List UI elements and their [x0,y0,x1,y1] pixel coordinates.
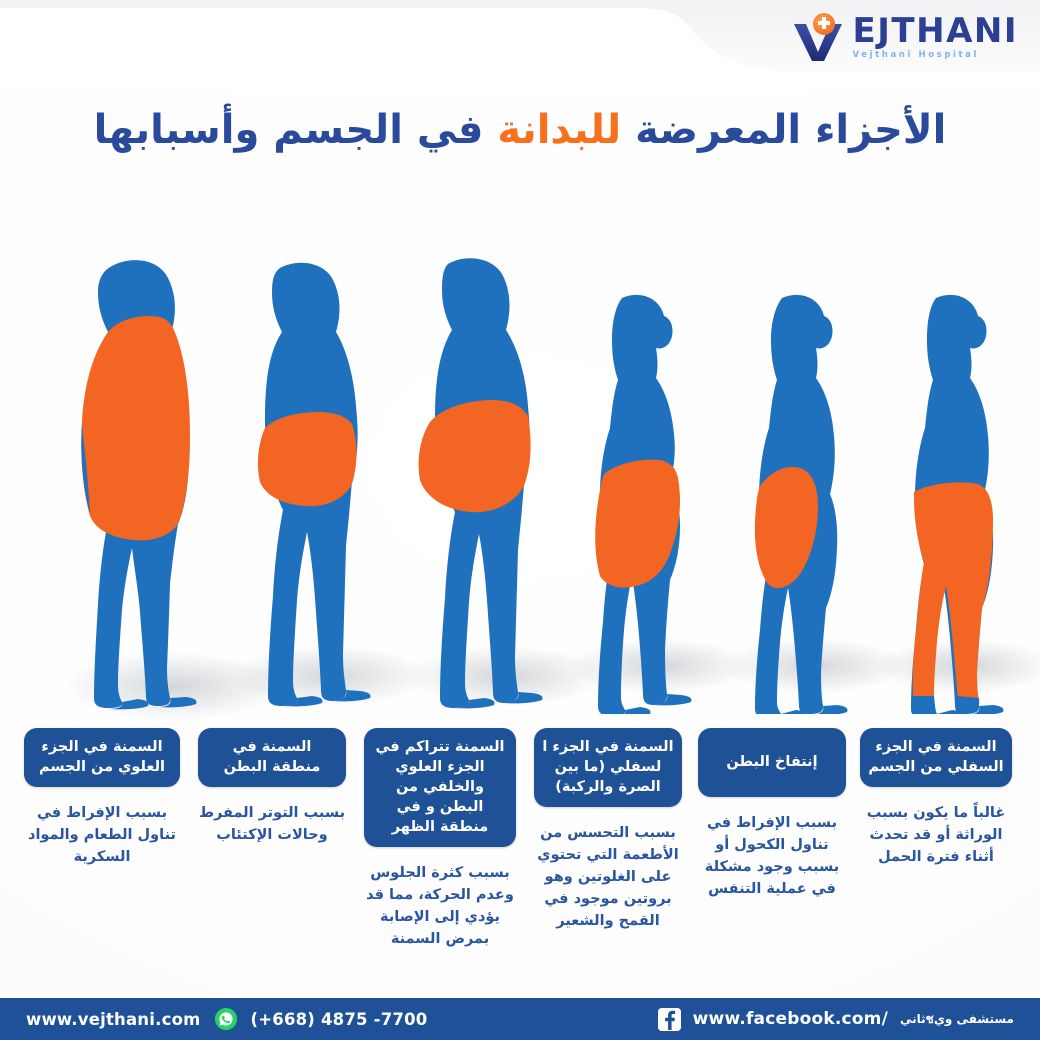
title-part-1: الأجزاء المعرضة [621,107,946,153]
facebook-icon[interactable] [658,1008,681,1031]
cause-text-2: بسبب التوتر المفرط وحالات الإكتئاب [198,802,346,846]
whatsapp-icon[interactable] [215,1008,237,1030]
cause-text-4: بسبب التحسس من الأطعمة التي تحتوي على ال… [534,822,682,932]
footer-website[interactable]: www.vejthani.com [26,1010,201,1029]
column-1: السمنة في الجزء العلوي من الجسم بسبب الإ… [24,728,180,868]
cause-text-1: بسبب الإفراط في تناول الطعام والمواد الس… [24,802,180,868]
badge-label-5: إنتفاخ البطن [698,728,846,797]
badge-label-3: السمنة تتراكم في الجزء العلوي والخلفي من… [364,728,516,847]
male-upper-back-abdomen-obesity-figure [390,248,545,714]
cause-text-6: غالباً ما يكون بسبب الوراثة أو قد تحدث أ… [860,802,1012,868]
male-upper-body-obesity-figure [46,248,206,714]
title-highlight: للبدانة [497,107,621,153]
cause-text-5: بسبب الإفراط في تناول الكحول أو بسبب وجو… [698,812,846,900]
footer-left-group: www.vejthani.com (+668) 4875 -7700 [0,1008,520,1030]
badge-label-2: السمنة في منطقة البطن [198,728,346,787]
column-6: السمنة في الجزء السفلي من الجسم غالباً م… [860,728,1012,868]
v-cross-logo-icon [789,12,849,64]
footer-facebook-arabic[interactable]: مستشفى ويชثاني [900,1010,1014,1029]
badge-label-6: السمنة في الجزء السفلي من الجسم [860,728,1012,787]
footer-bar: www.vejthani.com (+668) 4875 -7700 www.f… [0,998,1040,1040]
vejthani-logo: EJTHANI Vejthani Hospital [789,12,1018,68]
title-part-2: في الجسم وأسبابها [94,107,498,153]
column-4: السمنة في الجزء ا لسفلي (ما بين الصرة وا… [534,728,682,932]
labels-row: السمنة في الجزء العلوي من الجسم بسبب الإ… [0,728,1040,998]
footer-facebook[interactable]: www.facebook.com/ [693,1009,888,1029]
column-2: السمنة في منطقة البطن بسبب التوتر المفرط… [198,728,346,846]
badge-label-1: السمنة في الجزء العلوي من الجسم [24,728,180,787]
body-figures-row [0,236,1040,728]
infographic-poster: EJTHANI Vejthani Hospital الأجزاء المعرض… [0,0,1040,1040]
footer-right-group: www.facebook.com/ مستشفى ويชثاني [520,1008,1040,1031]
column-5: إنتفاخ البطن بسبب الإفراط في تناول الكحو… [698,728,846,900]
footer-phone[interactable]: (+668) 4875 -7700 [251,1010,428,1029]
logo-wordmark: EJTHANI [853,14,1018,48]
female-full-lower-body-obesity-figure [878,286,1016,714]
badge-label-4: السمنة في الجزء ا لسفلي (ما بين الصرة وا… [534,728,682,807]
page-title: الأجزاء المعرضة للبدانة في الجسم وأسبابه… [0,104,1040,156]
male-abdominal-obesity-figure [222,252,372,714]
column-3: السمنة تتراكم في الجزء العلوي والخلفي من… [364,728,516,950]
cause-text-3: بسبب كثرة الجلوس وعدم الحركة، مما قد يؤد… [364,862,516,950]
logo-subtitle: Vejthani Hospital [853,49,1018,61]
female-lower-body-navel-to-knee-figure [566,286,706,714]
female-bloated-belly-figure [724,286,862,714]
